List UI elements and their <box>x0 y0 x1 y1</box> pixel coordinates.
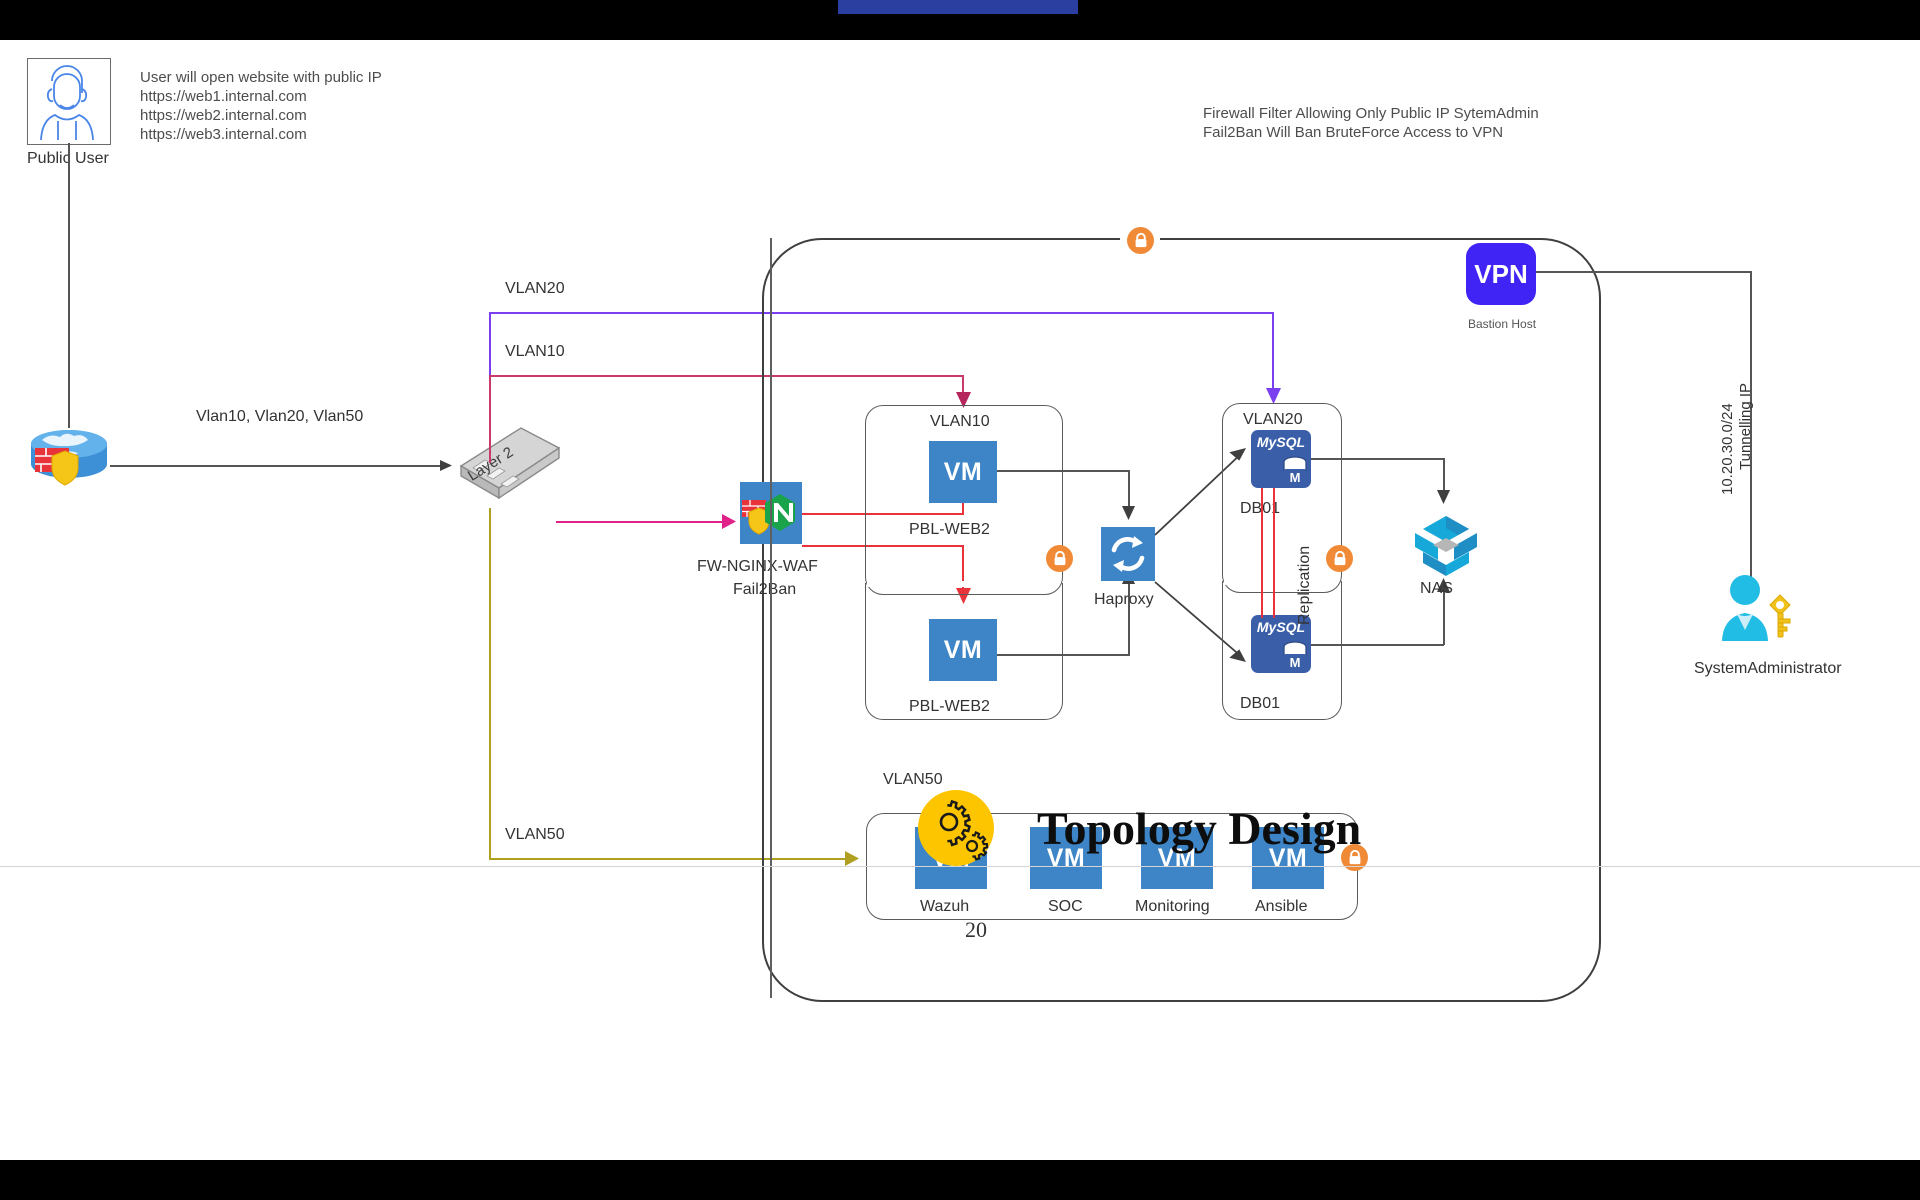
vlan20-group-title: VLAN20 <box>1238 411 1308 429</box>
vm-caption: VM <box>944 458 983 487</box>
waf-label-line1: FW-NGINX-WAF <box>697 558 818 576</box>
vlan50-group-title: VLAN50 <box>878 771 948 789</box>
replication-line-b <box>1273 488 1275 618</box>
svg-text:M: M <box>1290 655 1301 670</box>
perimeter-left-inner-line <box>770 238 772 998</box>
switch-to-waf-line <box>556 521 728 523</box>
padlock-badge-icon <box>1127 227 1154 254</box>
router-to-switch-line <box>110 465 445 467</box>
firewall-note-line2: Fail2Ban Will Ban BruteForce Access to V… <box>1203 123 1503 142</box>
layer2-switch-icon: Layer 2 <box>455 418 565 510</box>
tunnelling-label-line1: Tunnelling IP <box>1737 383 1754 470</box>
page-title: Topology Design <box>1037 802 1361 855</box>
bottom-letterbox <box>0 1160 1920 1200</box>
vlan20-line-label: VLAN20 <box>505 280 565 298</box>
gears-icon <box>918 790 994 866</box>
firewall-note-line1: Firewall Filter Allowing Only Public IP … <box>1203 104 1539 123</box>
sysadmin-label: SystemAdministrator <box>1694 660 1842 678</box>
db1-to-nas-arrow <box>1435 490 1453 510</box>
waf-label-line2: Fail2Ban <box>733 581 796 599</box>
nas-label: NAS <box>1420 580 1453 598</box>
vlan10-group-title: VLAN10 <box>925 413 995 431</box>
db-cylinder-icon: M <box>1282 456 1308 486</box>
user-note: User will open website with public IP ht… <box>140 68 382 144</box>
vlan10-seam <box>867 581 1059 587</box>
topology-slide: Public User User will open website with … <box>0 40 1920 1160</box>
haproxy-sync-icon <box>1101 527 1155 581</box>
padlock-badge-icon <box>1326 545 1353 572</box>
vlan10-group-lower <box>865 583 1063 720</box>
mysql-caption: MySQL <box>1251 434 1311 450</box>
nas-cube-icon <box>1407 510 1485 580</box>
user-portrait-icon <box>27 58 111 145</box>
vlan20-seam <box>1224 579 1338 585</box>
db2-to-nas-riser <box>1443 592 1445 645</box>
vpn-to-admin-line <box>1536 271 1752 273</box>
padlock-badge-icon <box>1046 545 1073 572</box>
vlan50-line-vertical <box>489 508 491 860</box>
top-letterbox <box>0 0 1920 40</box>
web2-to-haproxy-line <box>997 654 1130 656</box>
web1-to-haproxy-arrow <box>1120 506 1138 526</box>
vlan50-member-2-label: Monitoring <box>1135 898 1210 916</box>
vlan10-line-left-stub <box>489 375 491 463</box>
router-to-switch-arrow <box>440 458 456 474</box>
haproxy-label: Haproxy <box>1094 591 1154 609</box>
trunk-label: Vlan10, Vlan20, Vlan50 <box>196 408 363 426</box>
top-highlight-bar <box>838 0 1078 14</box>
db2-to-nas-line <box>1311 644 1444 646</box>
vpn-label: VPN <box>1474 259 1527 290</box>
switch-to-waf-arrow <box>722 513 740 531</box>
vlan50-member-0-label: Wazuh <box>920 898 969 916</box>
db-cylinder-icon: M <box>1282 641 1308 671</box>
web1-to-haproxy-line <box>997 470 1130 472</box>
tunnelling-label-line2: 10.20.30.0/24 <box>1719 403 1736 495</box>
db1-to-nas-line <box>1311 458 1444 460</box>
vlan10-member-0-label: PBL-WEB2 <box>909 521 990 539</box>
vlan50-member-3-label: Ansible <box>1255 898 1307 916</box>
vpn-caption: Bastion Host <box>1468 317 1536 331</box>
replication-label: Replication <box>1296 546 1314 625</box>
replication-line-a <box>1261 488 1263 618</box>
router-firewall-icon <box>28 426 110 490</box>
user-to-router-line <box>68 143 70 428</box>
vlan20-member-1-label: DB01 <box>1240 695 1280 713</box>
admin-key-icon <box>1712 573 1794 643</box>
mysql-icon: MySQL M <box>1251 430 1311 488</box>
vlan10-line-label: VLAN10 <box>505 343 565 361</box>
vpn-icon[interactable]: VPN <box>1466 243 1536 305</box>
footer-rule <box>0 866 1920 867</box>
vlan50-member-1-label: SOC <box>1048 898 1083 916</box>
page-number: 20 <box>965 917 987 943</box>
vlan50-line-label: VLAN50 <box>505 826 565 844</box>
svg-text:M: M <box>1290 470 1301 485</box>
vm-icon: VM <box>929 441 997 503</box>
